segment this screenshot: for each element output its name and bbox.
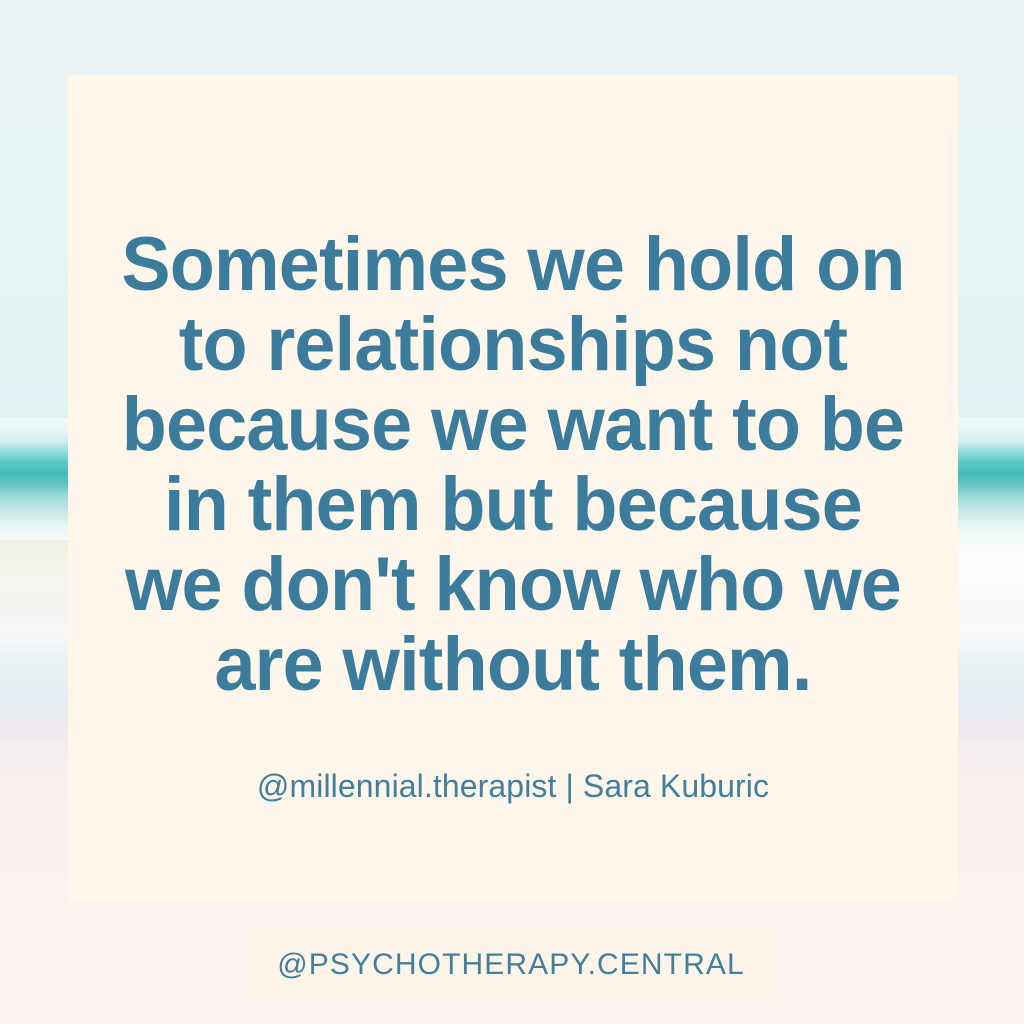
quote-card: Sometimes we hold on to relationships no…	[68, 75, 958, 902]
quote-line-2: to relationships not	[81, 305, 944, 385]
quote-graphic-canvas: Sometimes we hold on to relationships no…	[0, 0, 1024, 1024]
quote-line-4: in them but because	[81, 465, 944, 545]
quote-line-5: we don't know who we	[81, 545, 944, 625]
quote-line-3: because we want to be	[81, 385, 944, 465]
quote-attribution: @millennial.therapist | Sara Kuburic	[68, 767, 958, 805]
brand-handle-text: @PSYCHOTHERAPY.CENTRAL	[277, 948, 745, 982]
quote-text-block: Sometimes we hold on to relationships no…	[81, 225, 944, 705]
brand-handle-banner: @PSYCHOTHERAPY.CENTRAL	[244, 930, 778, 1000]
quote-line-6: are without them.	[81, 625, 944, 705]
quote-line-1: Sometimes we hold on	[81, 225, 944, 305]
